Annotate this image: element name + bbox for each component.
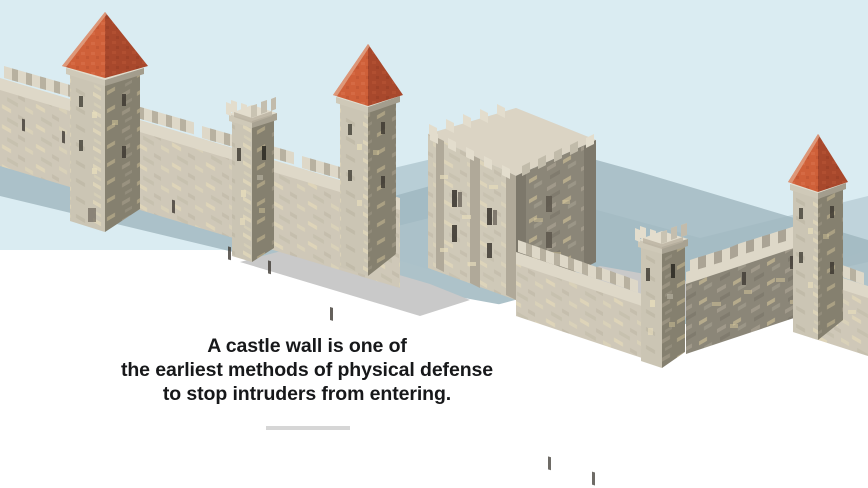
castle-illustration-scene: A castle wall is one of the earliest met… [0,0,868,488]
caption-divider-rule [266,426,350,430]
caption-line-3: to stop intruders from entering. [0,382,614,406]
caption-text-block: A castle wall is one of the earliest met… [0,334,614,406]
castle-artwork [0,0,868,488]
tower-crenellated-mid-left [226,97,277,262]
tower-crenellated-mid-right [635,223,688,368]
caption-line-1: A castle wall is one of [0,334,614,358]
caption-line-2: the earliest methods of physical defense [0,358,614,382]
